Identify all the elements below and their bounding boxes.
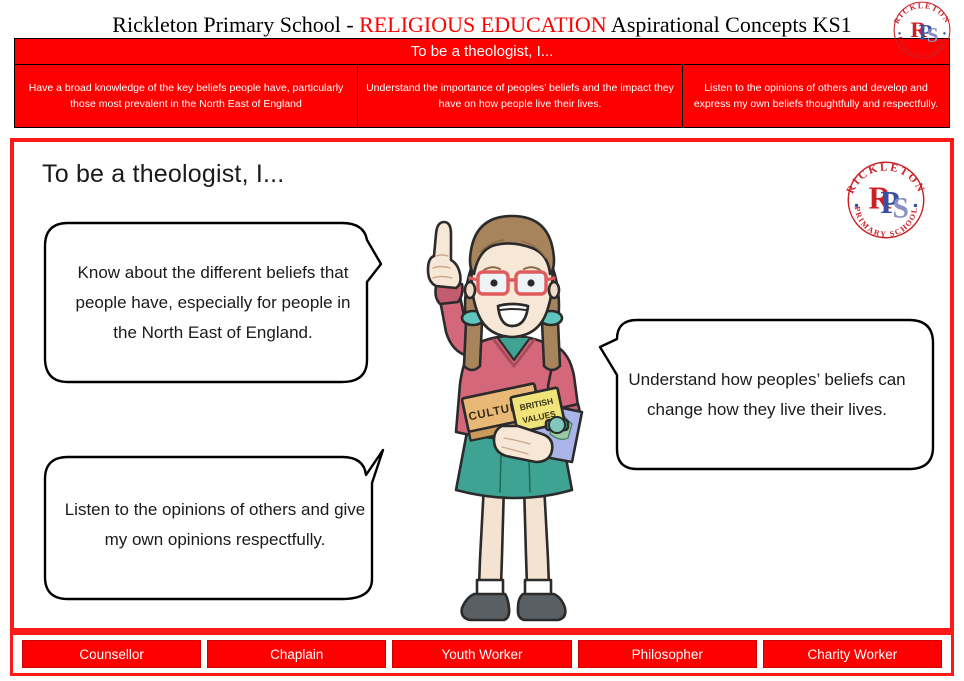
career-chip-3[interactable]: Youth Worker: [392, 640, 571, 668]
svg-text:S: S: [892, 192, 908, 224]
speech-bubble-2: Understand how peoples’ beliefs can chan…: [597, 317, 937, 472]
objective-cell-3: Listen to the opinions of others and dev…: [683, 65, 949, 127]
svg-text:S: S: [927, 23, 939, 47]
speech-bubble-1: Know about the different beliefs that pe…: [42, 220, 384, 385]
objective-cell-2: Understand the importance of peoples’ be…: [358, 65, 683, 127]
speech-bubble-2-text: Understand how peoples’ beliefs can chan…: [619, 365, 915, 425]
objectives-table: To be a theologist, I... Have a broad kn…: [14, 38, 950, 128]
career-chip-2[interactable]: Chaplain: [207, 640, 386, 668]
speech-bubble-1-text: Know about the different beliefs that pe…: [64, 258, 362, 348]
objective-cell-1: Have a broad knowledge of the key belief…: [15, 65, 358, 127]
panel-title: To be a theologist, I...: [42, 160, 284, 189]
career-chip-5[interactable]: Charity Worker: [763, 640, 942, 668]
page-title-suffix: Aspirational Concepts KS1: [607, 12, 852, 37]
page-title-accent: RELIGIOUS EDUCATION: [359, 12, 606, 37]
main-panel: To be a theologist, I... RICKLETON PRIMA…: [10, 138, 954, 632]
speech-bubble-3-text: Listen to the opinions of others and giv…: [64, 495, 366, 555]
student-character-illustration: CULTURES BRITISH VALUES: [406, 194, 621, 629]
career-chip-4[interactable]: Philosopher: [578, 640, 757, 668]
speech-bubble-3: Listen to the opinions of others and giv…: [42, 447, 388, 602]
careers-footer: Counsellor Chaplain Youth Worker Philoso…: [10, 632, 954, 676]
page-title-prefix: Rickleton Primary School -: [112, 12, 359, 37]
school-logo-icon-panel: RICKLETON PRIMARY SCHOOL R P S: [840, 154, 932, 246]
school-logo-icon: RICKLETON PRIMARY SCHOOL R P S: [888, 0, 956, 64]
career-chip-1[interactable]: Counsellor: [22, 640, 201, 668]
objectives-columns: Have a broad knowledge of the key belief…: [15, 65, 949, 127]
page-title: Rickleton Primary School - RELIGIOUS EDU…: [0, 12, 964, 38]
objectives-band-label: To be a theologist, I...: [15, 39, 949, 65]
